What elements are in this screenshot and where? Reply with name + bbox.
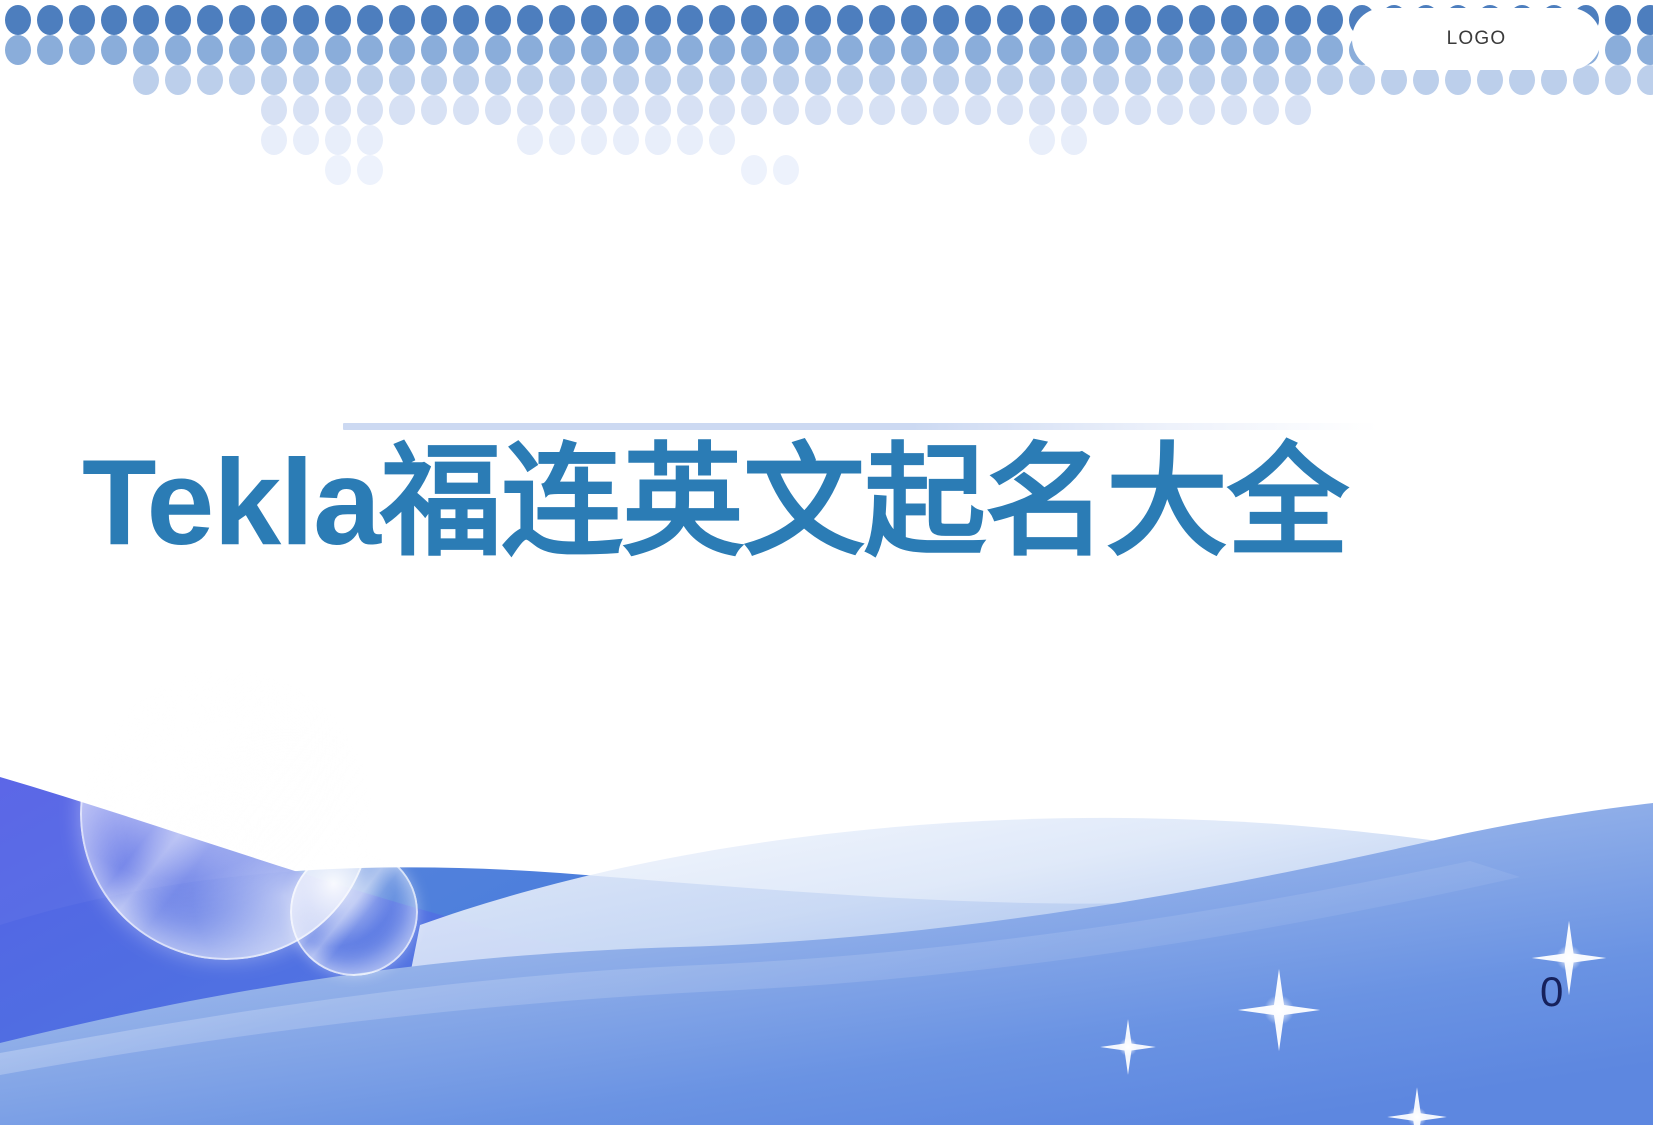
halftone-dot (1253, 95, 1279, 125)
halftone-dot (133, 35, 159, 65)
halftone-dot (1189, 5, 1215, 35)
halftone-dot (1061, 95, 1087, 125)
halftone-dot (1349, 65, 1375, 95)
halftone-dot (229, 5, 255, 35)
halftone-dot (1637, 35, 1653, 65)
halftone-dot (581, 35, 607, 65)
halftone-dot (677, 95, 703, 125)
halftone-dot (581, 125, 607, 155)
halftone-dot (837, 5, 863, 35)
halftone-dot (1253, 65, 1279, 95)
halftone-dot (1221, 5, 1247, 35)
page-title: Tekla福连英文起名大全 (82, 437, 1582, 569)
halftone-dot (1029, 5, 1055, 35)
halftone-dot (805, 65, 831, 95)
halftone-dot (261, 35, 287, 65)
halftone-dot (901, 5, 927, 35)
halftone-dot (549, 65, 575, 95)
halftone-dot (997, 5, 1023, 35)
halftone-dot (965, 5, 991, 35)
halftone-dot (581, 95, 607, 125)
halftone-dot (709, 65, 735, 95)
halftone-dot (613, 35, 639, 65)
halftone-dot (325, 155, 351, 185)
halftone-dot (549, 5, 575, 35)
halftone-dot (965, 35, 991, 65)
halftone-dot (581, 5, 607, 35)
halftone-dot (869, 35, 895, 65)
halftone-dot (1093, 35, 1119, 65)
halftone-dot (1317, 5, 1343, 35)
halftone-dot (517, 125, 543, 155)
halftone-dot (1253, 5, 1279, 35)
halftone-dot (293, 125, 319, 155)
halftone-dot (1157, 35, 1183, 65)
halftone-dot (5, 35, 31, 65)
halftone-dot (613, 125, 639, 155)
halftone-dot (709, 35, 735, 65)
halftone-dot (933, 35, 959, 65)
halftone-dot (165, 5, 191, 35)
halftone-dot (389, 5, 415, 35)
halftone-dot (741, 5, 767, 35)
halftone-dot (997, 65, 1023, 95)
halftone-dot (645, 5, 671, 35)
halftone-dot (165, 65, 191, 95)
halftone-dot (837, 65, 863, 95)
halftone-dot (933, 95, 959, 125)
halftone-dot (741, 155, 767, 185)
halftone-dot (1093, 65, 1119, 95)
halftone-dot (677, 35, 703, 65)
halftone-dot (709, 125, 735, 155)
halftone-dot (965, 95, 991, 125)
halftone-dot (261, 65, 287, 95)
halftone-dot (709, 5, 735, 35)
halftone-dot (869, 65, 895, 95)
halftone-dot (517, 5, 543, 35)
halftone-dot (165, 35, 191, 65)
halftone-dot (1317, 65, 1343, 95)
halftone-dot (1029, 35, 1055, 65)
halftone-dot (293, 5, 319, 35)
halftone-dot (1157, 5, 1183, 35)
halftone-dot (1637, 5, 1653, 35)
page-number: 0 (1540, 968, 1563, 1016)
halftone-dot (517, 35, 543, 65)
halftone-dot (1061, 35, 1087, 65)
halftone-dot (677, 65, 703, 95)
halftone-dot (805, 95, 831, 125)
halftone-dot (805, 35, 831, 65)
halftone-dot (613, 5, 639, 35)
halftone-dot (997, 95, 1023, 125)
halftone-dot (869, 5, 895, 35)
halftone-dot (261, 125, 287, 155)
halftone-dot (1029, 95, 1055, 125)
halftone-dot (645, 125, 671, 155)
halftone-dot (325, 95, 351, 125)
halftone-dot (421, 5, 447, 35)
halftone-dot (421, 95, 447, 125)
halftone-dot (1285, 65, 1311, 95)
halftone-dot (1221, 65, 1247, 95)
halftone-dot (549, 35, 575, 65)
halftone-dot (1125, 35, 1151, 65)
halftone-dot (293, 65, 319, 95)
halftone-dot (709, 95, 735, 125)
halftone-dot (741, 95, 767, 125)
halftone-dot (965, 65, 991, 95)
halftone-dot (357, 5, 383, 35)
halftone-dot (229, 35, 255, 65)
halftone-dot (613, 65, 639, 95)
halftone-dot (901, 35, 927, 65)
logo-placeholder[interactable]: LOGO (1352, 8, 1601, 70)
halftone-dot (485, 95, 511, 125)
halftone-dot (1285, 5, 1311, 35)
halftone-dot (805, 5, 831, 35)
halftone-dot (453, 95, 479, 125)
halftone-dot (421, 35, 447, 65)
halftone-dot (485, 5, 511, 35)
halftone-dot (1125, 95, 1151, 125)
halftone-dot (1605, 65, 1631, 95)
halftone-dot (1573, 65, 1599, 95)
halftone-dot (773, 5, 799, 35)
halftone-dot (773, 35, 799, 65)
halftone-dot (261, 95, 287, 125)
halftone-dot (1125, 65, 1151, 95)
halftone-dot (1029, 65, 1055, 95)
halftone-dot (1221, 95, 1247, 125)
halftone-dot (197, 5, 223, 35)
halftone-dot (1221, 35, 1247, 65)
halftone-dot (5, 5, 31, 35)
halftone-dot (453, 35, 479, 65)
halftone-dot (325, 125, 351, 155)
halftone-dot (901, 95, 927, 125)
halftone-dot (773, 95, 799, 125)
halftone-dot (933, 5, 959, 35)
halftone-dot (1093, 95, 1119, 125)
halftone-dot (1061, 5, 1087, 35)
halftone-dot (1285, 95, 1311, 125)
halftone-dot (645, 35, 671, 65)
halftone-dot (133, 5, 159, 35)
halftone-dot (677, 125, 703, 155)
halftone-dot (1061, 125, 1087, 155)
halftone-dot (517, 95, 543, 125)
halftone-dot (549, 125, 575, 155)
halftone-dot (997, 35, 1023, 65)
halftone-dot (389, 95, 415, 125)
halftone-dot (837, 95, 863, 125)
halftone-dot (1317, 35, 1343, 65)
bubble-small-decoration (290, 848, 418, 976)
halftone-dot (325, 35, 351, 65)
halftone-dot (1157, 65, 1183, 95)
halftone-dot (741, 35, 767, 65)
slide-canvas: LOGO Tekla福连英文起名大全 (0, 0, 1653, 1125)
title-divider-rule (343, 423, 1378, 430)
halftone-dot (485, 65, 511, 95)
halftone-dot (453, 65, 479, 95)
halftone-dot (197, 65, 223, 95)
halftone-dot (869, 95, 895, 125)
halftone-dot (229, 65, 255, 95)
halftone-dot (293, 35, 319, 65)
halftone-dot (741, 65, 767, 95)
halftone-dot (357, 35, 383, 65)
halftone-dot (1189, 95, 1215, 125)
halftone-dot (1093, 5, 1119, 35)
halftone-dot (773, 65, 799, 95)
halftone-dot (421, 65, 447, 95)
halftone-dot (1605, 35, 1631, 65)
halftone-dot (325, 65, 351, 95)
halftone-dot (357, 125, 383, 155)
halftone-dot (1029, 125, 1055, 155)
halftone-dot (133, 65, 159, 95)
halftone-dot (357, 65, 383, 95)
halftone-dot (837, 35, 863, 65)
halftone-dot (197, 35, 223, 65)
halftone-dot (1157, 95, 1183, 125)
halftone-dot (357, 155, 383, 185)
halftone-dot (1189, 65, 1215, 95)
halftone-dot (1125, 5, 1151, 35)
halftone-dot (389, 65, 415, 95)
halftone-dot (1285, 35, 1311, 65)
halftone-dot (69, 35, 95, 65)
halftone-dot (101, 35, 127, 65)
halftone-dot (37, 5, 63, 35)
halftone-dot (645, 65, 671, 95)
halftone-dot (37, 35, 63, 65)
halftone-dot (1253, 35, 1279, 65)
halftone-dot (1637, 65, 1653, 95)
halftone-dot (613, 95, 639, 125)
halftone-dot (453, 5, 479, 35)
halftone-dot (549, 95, 575, 125)
logo-placeholder-label: LOGO (1447, 28, 1507, 50)
halftone-dot (357, 95, 383, 125)
halftone-dot (389, 35, 415, 65)
halftone-dot (325, 5, 351, 35)
halftone-dot (293, 95, 319, 125)
halftone-dot (1061, 65, 1087, 95)
halftone-dot (101, 5, 127, 35)
halftone-dot (677, 5, 703, 35)
halftone-dot (933, 65, 959, 95)
halftone-dot (517, 65, 543, 95)
halftone-dot (773, 155, 799, 185)
halftone-dot (581, 65, 607, 95)
halftone-dot (69, 5, 95, 35)
halftone-dot (901, 65, 927, 95)
halftone-dot (1605, 5, 1631, 35)
halftone-dot (645, 95, 671, 125)
halftone-dot (485, 35, 511, 65)
halftone-dot (1189, 35, 1215, 65)
halftone-dot (261, 5, 287, 35)
